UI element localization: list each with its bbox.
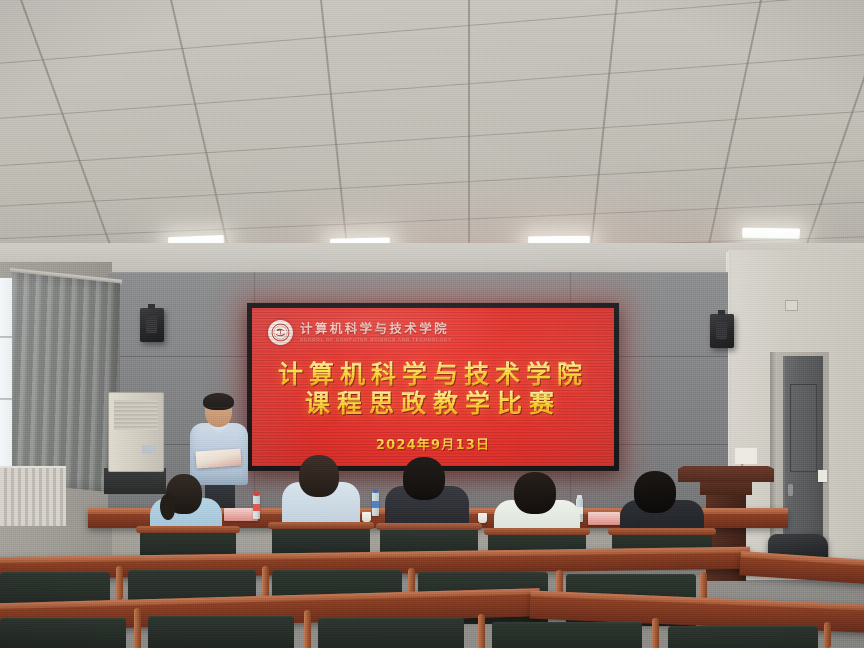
banner-date: 2024年9月13日 [252,434,614,453]
wall-speaker-left [140,308,164,342]
door-panel [790,384,817,472]
chair-rail [484,528,590,535]
school-emblem-icon [268,320,293,345]
window-curtain[interactable] [12,272,120,493]
chair-post [652,618,659,648]
chair-rail [376,523,482,530]
chair-post [134,608,141,648]
door-handle-icon[interactable] [788,484,793,496]
banner-logo-row: 计算机科学与技术学院 SCHOOL OF COMPUTER SCIENCE AN… [268,320,452,345]
ceiling-light-far-right [742,228,800,240]
presenter-glasses-icon [208,407,229,413]
ac-vent-icon [114,400,158,430]
banner-title-line2: 课程思政教学比赛 [252,389,614,418]
ac-display-panel [142,445,156,454]
water-bottle [253,495,260,519]
chair-back[interactable] [0,618,126,648]
banner-org-name-cn: 计算机科学与技术学院 [300,323,452,336]
chair-back[interactable] [318,618,464,648]
chair-post [116,566,123,600]
banner-title: 计算机科学与技术学院 课程思政教学比赛 [252,360,614,418]
led-banner-screen[interactable]: 计算机科学与技术学院 SCHOOL OF COMPUTER SCIENCE AN… [252,308,614,466]
chair-back[interactable] [492,622,642,648]
banner-org-name-en: SCHOOL OF COMPUTER SCIENCE AND TECHNOLOG… [300,338,452,342]
chair-post [478,614,485,648]
conference-room-photo: 计算机科学与技术学院 SCHOOL OF COMPUTER SCIENCE AN… [0,0,864,648]
wall-speaker-right [710,314,734,348]
chair-post [824,622,831,648]
podium-placard [735,448,757,464]
water-bottle [372,492,379,516]
chair-rail [608,528,716,535]
paper-cup [362,512,371,522]
chair-rail [136,526,240,533]
chair-back[interactable] [148,616,294,648]
chair-rail [268,522,374,529]
lectern-neck [700,482,752,495]
wall-notice-sign [818,470,827,482]
floor-air-conditioner[interactable] [108,392,164,472]
banner-title-line1: 计算机科学与技术学院 [252,360,614,389]
wall-switch-plate[interactable] [785,300,798,311]
banner-logo-text: 计算机科学与技术学院 SCHOOL OF COMPUTER SCIENCE AN… [300,323,452,343]
lectern-top [678,466,774,482]
red-name-card [588,512,620,525]
chair-back[interactable] [668,626,818,648]
wall-radiator [0,466,66,526]
chair-post [304,610,311,648]
led-screen-bezel: 计算机科学与技术学院 SCHOOL OF COMPUTER SCIENCE AN… [247,303,619,471]
presenter-documents [195,448,241,468]
paper-cup [478,513,487,523]
